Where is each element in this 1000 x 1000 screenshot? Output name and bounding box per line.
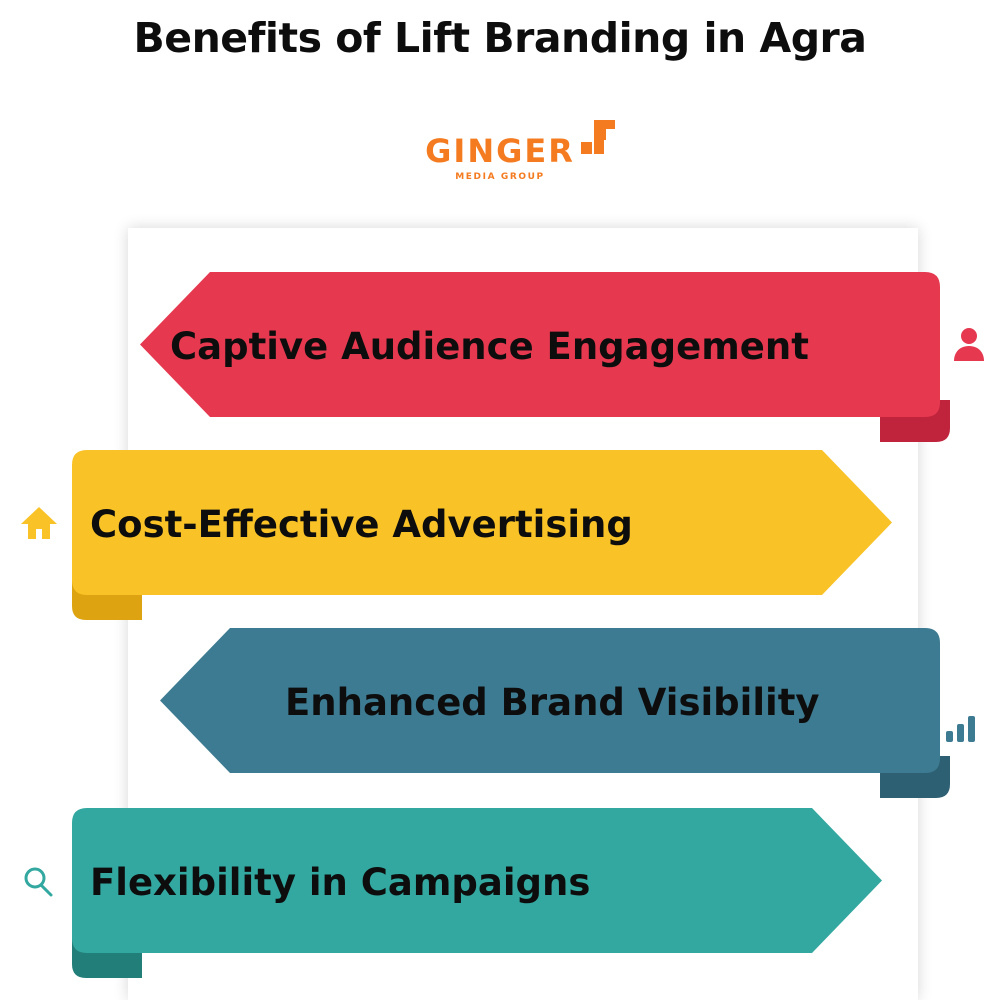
logo-wordmark: GINGER: [425, 132, 575, 170]
benefit-row-1[interactable]: Captive Audience Engagement: [140, 272, 960, 442]
benefit-row-3-label: Enhanced Brand Visibility: [285, 684, 820, 721]
home-icon: [20, 505, 58, 545]
benefit-row-4-label: Flexibility in Campaigns: [90, 864, 590, 901]
benefit-row-2[interactable]: Cost-Effective Advertising: [10, 450, 910, 620]
page-title: Benefits of Lift Branding in Agra: [0, 14, 1000, 62]
search-icon: [22, 866, 54, 902]
person-icon: [952, 327, 986, 367]
benefit-row-1-label: Captive Audience Engagement: [170, 328, 809, 365]
bar-chart-icon: [946, 716, 976, 746]
brand-logo: GINGER MEDIA GROUP: [0, 132, 1000, 183]
benefit-row-2-label: Cost-Effective Advertising: [90, 506, 633, 543]
benefit-row-4[interactable]: Flexibility in Campaigns: [10, 808, 910, 978]
logo-tagline: MEDIA GROUP: [425, 171, 575, 183]
infographic-canvas: Benefits of Lift Branding in Agra GINGER…: [0, 0, 1000, 1000]
benefit-row-3[interactable]: Enhanced Brand Visibility: [160, 628, 980, 798]
bar-chart-mark-icon: [581, 120, 617, 154]
